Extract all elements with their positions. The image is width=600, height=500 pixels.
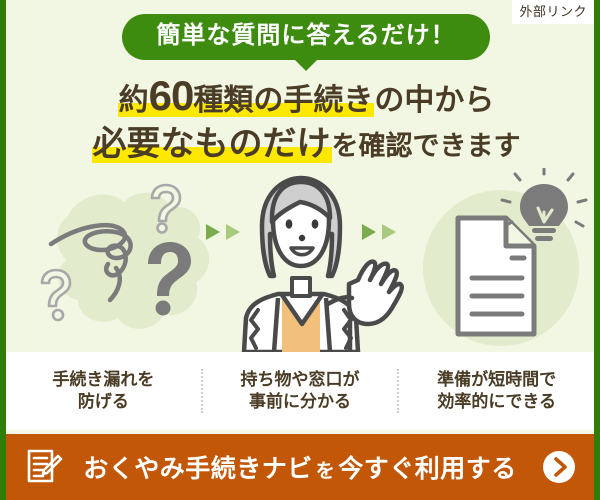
cta-button[interactable]: おくやみ手続きナビを今すぐ利用する [6, 434, 594, 500]
cta-conjunction: を [313, 461, 339, 482]
benefit-item-3: 準備が短時間で 効率的にできる [397, 369, 594, 414]
cta-action: 今すぐ利用する [338, 455, 517, 483]
badge: 簡単な質問に答えるだけ！ [122, 14, 489, 60]
chevron-right-circle-icon[interactable] [542, 450, 576, 484]
benefit-3-line-1: 準備が短時間で [403, 369, 590, 391]
headline-highlight-1: 約60種類の手続き [118, 84, 375, 117]
badge-tail-triangle [295, 60, 317, 71]
headline-line-2: 必要なものだけを確認できます [6, 125, 600, 163]
benefit-1-line-2: 防げる [10, 391, 197, 413]
headline-line-1-tail: の中から [374, 84, 494, 117]
benefit-3-line-2: 効率的にできる [403, 391, 590, 413]
benefits-strip: 手続き漏れを 防げる 持ち物や窓口が 事前に分かる 準備が短時間で 効率的にでき… [6, 352, 594, 430]
headline-line-2-tail: を確認できます [332, 131, 521, 161]
headline-highlight-2: 必要なものだけ [92, 125, 332, 163]
headline-line-1: 約60種類の手続きの中から [6, 72, 600, 119]
promo-banner[interactable]: 外部リンク 簡単な質問に答えるだけ！ 約60種類の手続きの中から 必要なものだけ… [0, 0, 600, 500]
benefit-2-line-2: 事前に分かる [207, 391, 394, 413]
external-link-tag: 外部リンク [512, 0, 594, 24]
illustration-area [6, 168, 594, 352]
benefit-item-1: 手続き漏れを 防げる [6, 369, 201, 414]
benefit-2-line-1: 持ち物や窓口が [207, 369, 394, 391]
headline-shurui: 種類の手続き [193, 84, 373, 117]
benefit-1-line-1: 手続き漏れを [10, 369, 197, 391]
headline-number-60: 60 [149, 72, 194, 119]
headline: 約60種類の手続きの中から 必要なものだけを確認できます [6, 72, 600, 163]
cta-label: おくやみ手続きナビを今すぐ利用する [58, 449, 542, 485]
badge-container: 簡単な質問に答えるだけ！ [6, 14, 600, 60]
badge-label: 簡単な質問に答えるだけ！ [156, 22, 455, 49]
benefit-item-2: 持ち物や窓口が 事前に分かる [201, 369, 398, 414]
headline-yaku: 約 [119, 84, 149, 117]
cta-service-name: おくやみ手続きナビ [83, 455, 313, 483]
